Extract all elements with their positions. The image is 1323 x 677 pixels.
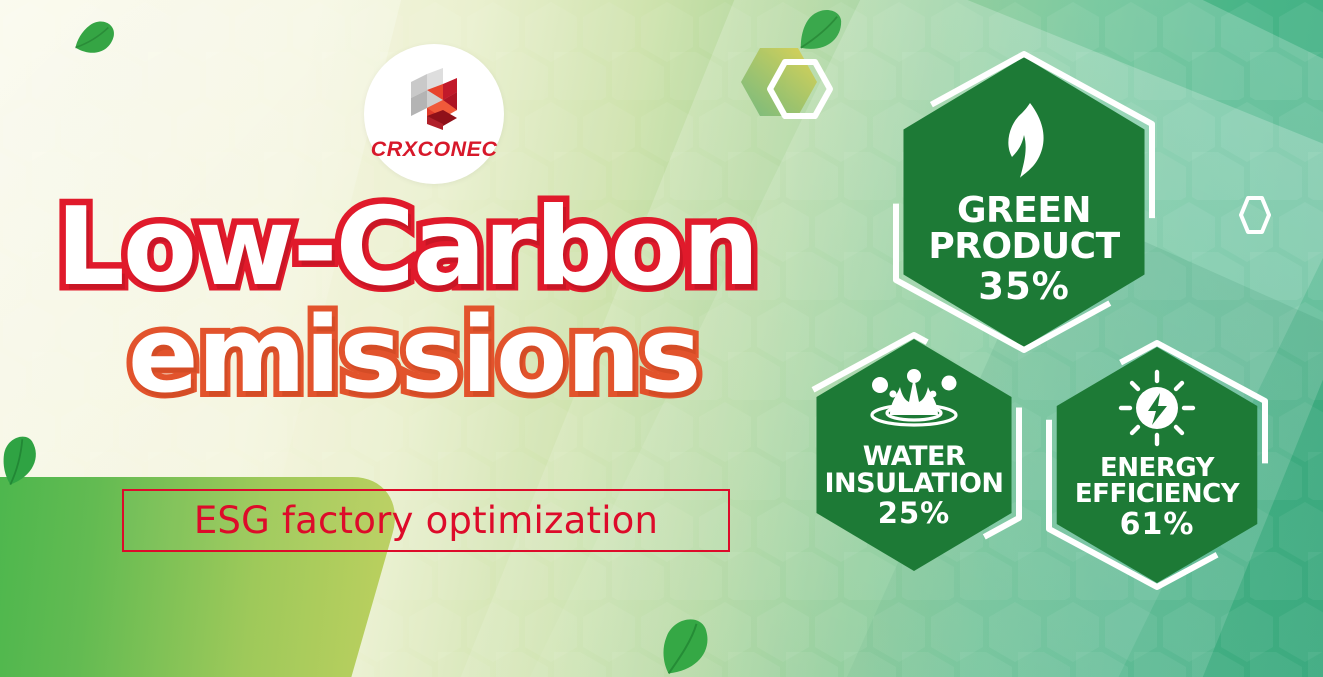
badge-label-line-1: WATER — [824, 443, 1003, 470]
headline-line-1: Low-Carbon — [56, 196, 816, 300]
hexagon-outline-icon-small — [1232, 192, 1278, 238]
water-splash-icon — [866, 369, 962, 431]
crxconec-cube-logo-icon — [403, 66, 465, 132]
headline-text: Low-Carbon emissions — [56, 196, 816, 406]
badge-label-line-2: PRODUCT — [928, 229, 1119, 265]
badge-label-line-1: ENERGY — [1075, 455, 1239, 481]
badge-value: 25% — [878, 498, 950, 530]
badge-label: ENERGY EFFICIENCY — [1075, 455, 1239, 507]
badge-label: GREEN PRODUCT — [928, 193, 1119, 265]
brand-name: CRXCONEC — [371, 138, 498, 162]
badge-value: 35% — [978, 267, 1070, 308]
brand-logo[interactable]: CRXCONEC — [364, 44, 504, 184]
badge-energy-efficiency[interactable]: ENERGY EFFICIENCY 61% — [1048, 347, 1266, 583]
leaf-icon-top-center — [795, 0, 851, 60]
headline-line-2: emissions — [128, 306, 816, 406]
badge-content: ENERGY EFFICIENCY 61% — [1048, 347, 1266, 541]
leaf-icon-bottom — [650, 612, 722, 677]
subtitle-text: ESG factory optimization — [194, 499, 658, 542]
subtitle-box: ESG factory optimization — [122, 489, 730, 552]
badge-content: WATER INSULATION 25% — [808, 339, 1020, 530]
esg-promo-banner: CRXCONEC Low-Carbon emissions ESG factor… — [0, 0, 1323, 677]
leaf-icon — [994, 101, 1054, 179]
badge-value: 61% — [1120, 508, 1195, 541]
badge-water-insulation[interactable]: WATER INSULATION 25% — [808, 339, 1020, 571]
badge-content: GREEN PRODUCT 35% — [893, 57, 1155, 308]
sun-bolt-icon — [1118, 369, 1196, 447]
badge-green-product[interactable]: GREEN PRODUCT 35% — [893, 57, 1155, 347]
leaf-icon-top-left — [72, 14, 120, 62]
badge-label: WATER INSULATION — [824, 443, 1003, 497]
badge-label-line-1: GREEN — [928, 193, 1119, 229]
leaf-icon-left — [0, 430, 48, 486]
badge-label-line-2: INSULATION — [824, 470, 1003, 497]
headline: Low-Carbon emissions — [56, 196, 816, 406]
badge-label-line-2: EFFICIENCY — [1075, 481, 1239, 507]
